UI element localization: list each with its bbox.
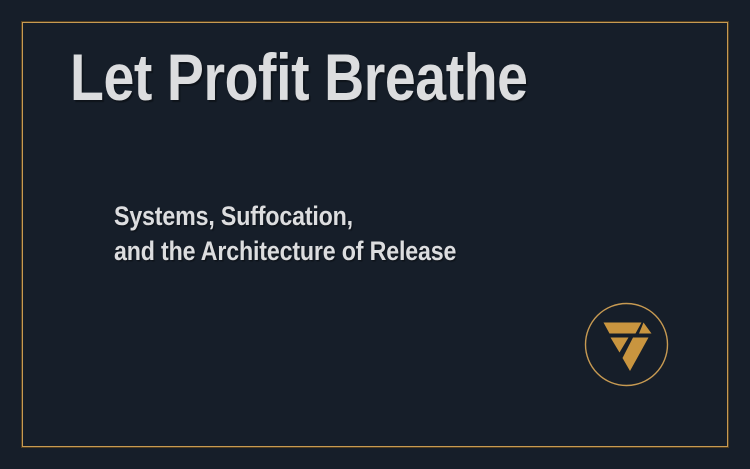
logo-diagonal-stroke [623,338,649,372]
page-subtitle: Systems, Suffocation, and the Architectu… [114,199,456,269]
triangle-seven-monogram-icon [584,302,669,387]
page-title: Let Profit Breathe [70,44,528,110]
page-subtitle-line-1: Systems, Suffocation, [114,199,456,234]
brand-logo [584,302,669,387]
logo-top-bar [604,323,642,334]
logo-corner-wedge [639,323,652,334]
logo-inner-triangle [611,338,629,353]
logo-circle-outline [586,304,668,386]
page-subtitle-line-2: and the Architecture of Release [114,234,456,269]
title-slide: Let Profit Breathe Systems, Suffocation,… [0,0,750,469]
